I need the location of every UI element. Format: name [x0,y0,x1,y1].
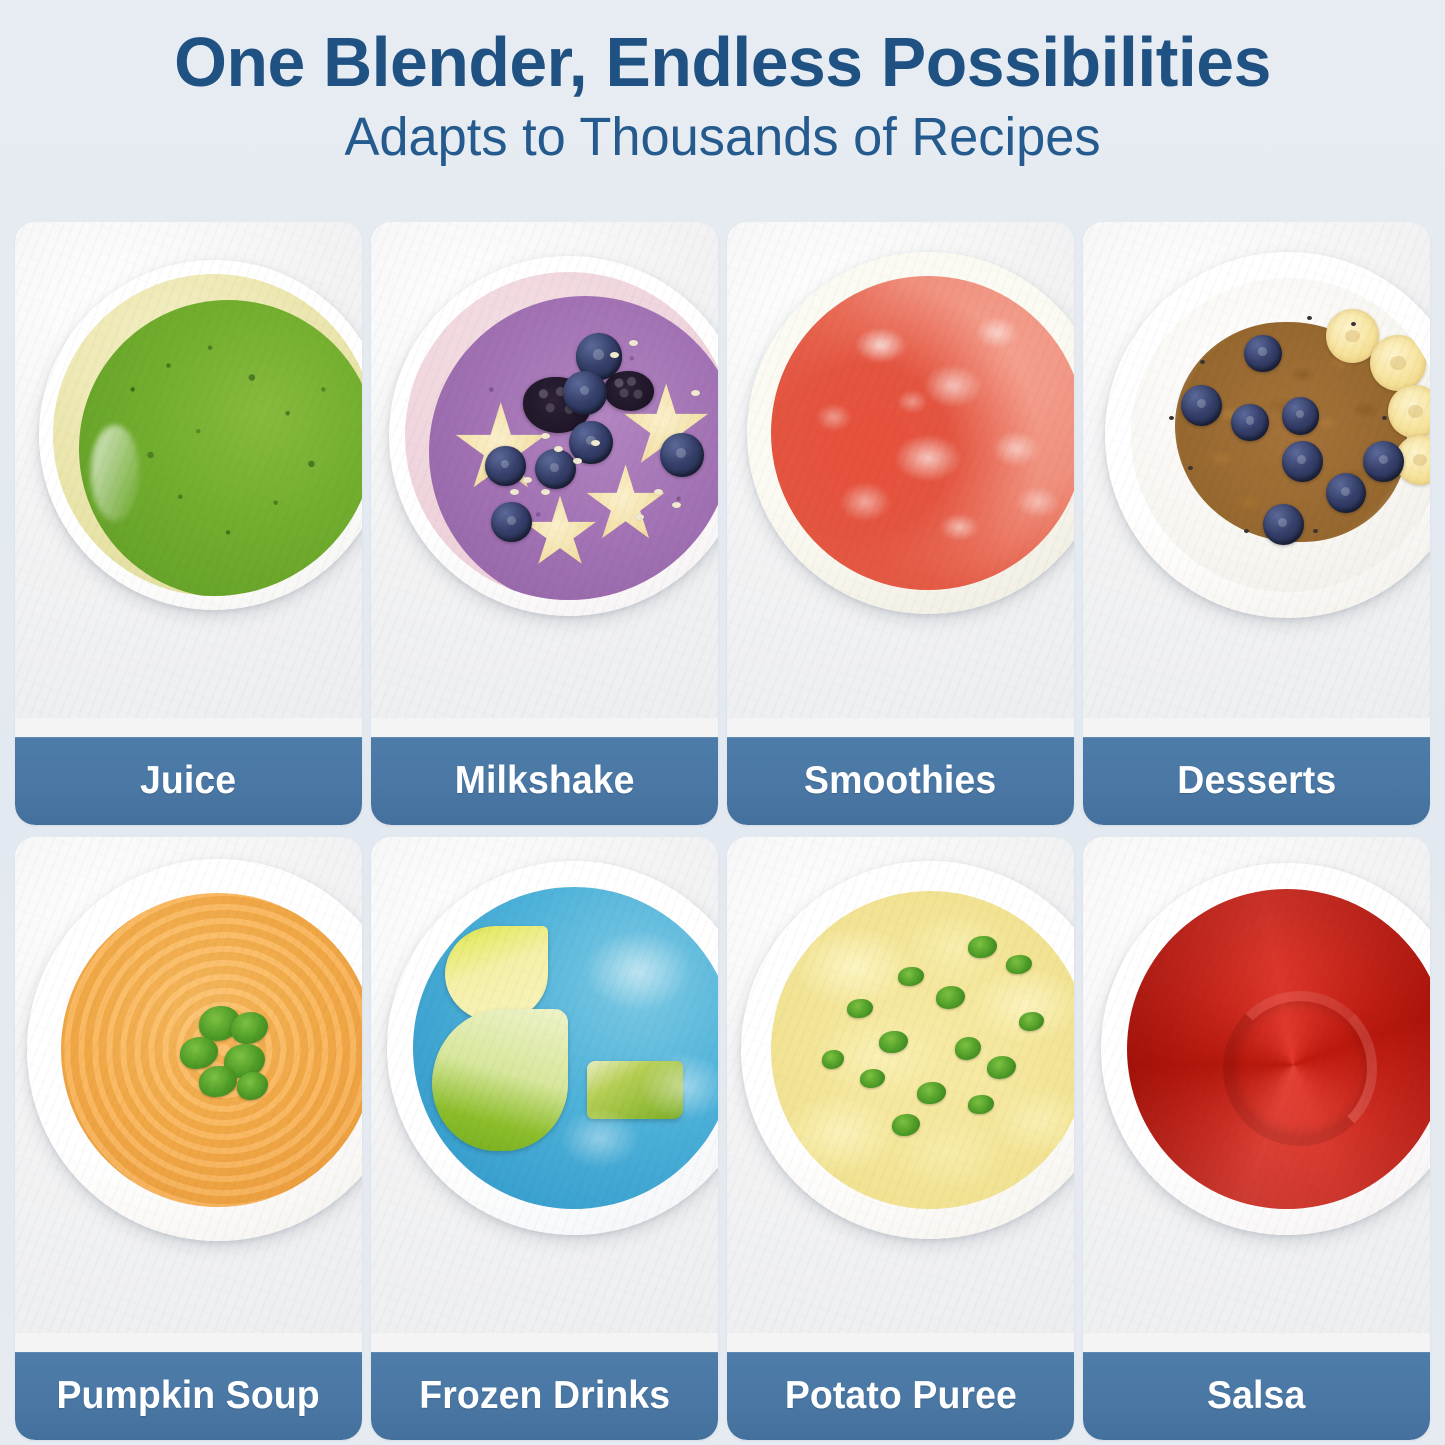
blueberry-icon [1263,504,1304,545]
recipe-label-salsa: Salsa [1083,1352,1430,1440]
page-title: One Blender, Endless Possibilities [22,26,1424,99]
liquid-highlight [91,425,139,520]
parsley-garnish-icon [180,1037,218,1068]
lemon-wedge-icon [445,926,548,1023]
lime-wedge-icon [432,1009,567,1151]
orange-soup-liquid [61,893,362,1207]
blackberry-icon [523,377,592,433]
pumpkin-soup-photo [15,837,362,1333]
blueberry-icon [1231,404,1269,442]
bowl-icon [1105,252,1430,618]
sesame-seed-icon [629,340,638,346]
parsley-garnish-icon [822,1050,844,1069]
sesame-seed-icon [635,514,644,520]
parsley-garnish-icon [898,967,923,986]
blueberry-icon [569,421,613,465]
page-subtitle: Adapts to Thousands of Recipes [22,109,1424,166]
smoothies-photo [727,222,1074,718]
parsley-garnish-icon [917,1082,946,1104]
parsley-garnish-icon [1006,955,1031,974]
bowl-icon [27,859,362,1241]
frozen-drinks-photo [371,837,718,1333]
parsley-garnish-icon [968,936,997,958]
recipe-label-text: Potato Puree [784,1374,1016,1418]
recipe-label-potato-puree: Potato Puree [727,1352,1074,1440]
sesame-seed-icon [654,489,663,495]
parsley-garnish-icon [199,1066,237,1097]
yogurt-base [1131,278,1430,592]
banana-slice-icon [1388,385,1430,438]
recipe-label-text: Frozen Drinks [419,1374,670,1418]
green-juice-liquid [79,300,362,596]
parsley-garnish-icon [231,1012,269,1043]
recipe-cell-frozen-drinks[interactable]: Frozen Drinks [371,837,718,1440]
juice-photo [15,222,362,718]
recipe-label-smoothies: Smoothies [727,737,1074,825]
banana-slice-icon [1370,335,1427,392]
blueberry-icon [576,333,623,380]
banana-star-icon [454,402,548,496]
parsley-garnish-icon [879,1031,908,1053]
blueberry-icon [1282,441,1323,482]
blueberry-icon [1363,441,1404,482]
sesame-seed-icon [510,489,519,495]
salsa-photo [1083,837,1430,1333]
parsley-garnish-icon [936,986,965,1008]
recipe-label-frozen-drinks: Frozen Drinks [371,1352,718,1440]
parsley-garnish-icon [847,999,872,1018]
blackberry-icon [604,371,654,412]
lime-chunk-icon [587,1061,684,1119]
recipe-cell-milkshake[interactable]: Milkshake [371,222,718,825]
sesame-seed-icon [591,440,600,446]
parsley-garnish-icon [892,1114,921,1136]
blueberry-icon [660,433,704,477]
recipe-cell-salsa[interactable]: Salsa [1083,837,1430,1440]
poster-header: One Blender, Endless Possibilities Adapt… [0,0,1445,165]
blueberry-icon [535,449,576,490]
recipe-label-text: Milkshake [455,759,635,803]
parsley-garnish-icon [860,1069,885,1088]
sesame-seed-icon [554,446,563,452]
sesame-seed-icon [523,477,532,483]
sauce-swirl-inner [1223,991,1377,1145]
recipe-cell-pumpkin-soup[interactable]: Pumpkin Soup [15,837,362,1440]
promo-poster: One Blender, Endless Possibilities Adapt… [0,0,1445,1445]
blueberry-icon [1282,397,1320,435]
purple-smoothie-liquid [429,296,718,600]
banana-star-icon [523,496,598,571]
recipe-cell-juice[interactable]: Juice [15,222,362,825]
bowl-rim [405,272,718,600]
bowl-icon [387,861,718,1235]
bowl-icon [1101,863,1430,1235]
recipe-label-juice: Juice [15,737,362,825]
parsley-garnish-icon [1019,1012,1044,1031]
recipe-label-milkshake: Milkshake [371,737,718,825]
chia-seed-icon [1351,322,1356,326]
red-shaved-ice [771,276,1074,590]
recipe-grid: Juice [15,222,1430,1440]
recipe-label-text: Pumpkin Soup [57,1374,320,1418]
bowl-icon [39,260,362,610]
bowl-rim [53,274,362,596]
bowl-icon [747,252,1074,614]
parsley-garnish-icon [237,1072,268,1100]
sesame-seed-icon [541,489,550,495]
chia-seed-icon [1200,360,1205,364]
desserts-photo [1083,222,1430,718]
parsley-garnish-icon [968,1095,993,1114]
blueberry-icon [563,371,607,415]
sesame-seed-icon [541,433,550,439]
chia-seed-icon [1169,416,1174,420]
sesame-seed-icon [691,390,700,396]
banana-star-icon [622,383,709,470]
recipe-label-text: Smoothies [804,759,996,803]
recipe-label-text: Desserts [1177,759,1336,803]
blueberry-icon [1244,335,1282,373]
chia-seed-icon [1307,316,1312,320]
recipe-label-desserts: Desserts [1083,737,1430,825]
milkshake-photo [371,222,718,718]
recipe-label-pumpkin-soup: Pumpkin Soup [15,1352,362,1440]
bowl-icon [741,861,1074,1239]
sesame-seed-icon [672,502,681,508]
blueberry-icon [1181,385,1222,426]
mashed-potato [771,891,1074,1209]
blue-iced-drink [413,887,718,1209]
parsley-garnish-icon [955,1037,980,1059]
blueberry-icon [491,502,532,543]
potato-puree-photo [727,837,1074,1333]
blueberry-icon [485,446,526,487]
chia-seed-icon [1244,529,1249,533]
recipe-label-text: Salsa [1207,1374,1305,1418]
recipe-cell-potato-puree[interactable]: Potato Puree [727,837,1074,1440]
recipe-label-text: Juice [140,759,236,803]
parsley-garnish-icon [987,1056,1016,1078]
recipe-cell-desserts[interactable]: Desserts [1083,222,1430,825]
red-sauce [1127,889,1430,1209]
sesame-seed-icon [573,458,582,464]
sesame-seed-icon [610,352,619,358]
banana-star-icon [585,464,666,545]
bowl-icon [389,256,718,616]
recipe-cell-smoothies[interactable]: Smoothies [727,222,1074,825]
